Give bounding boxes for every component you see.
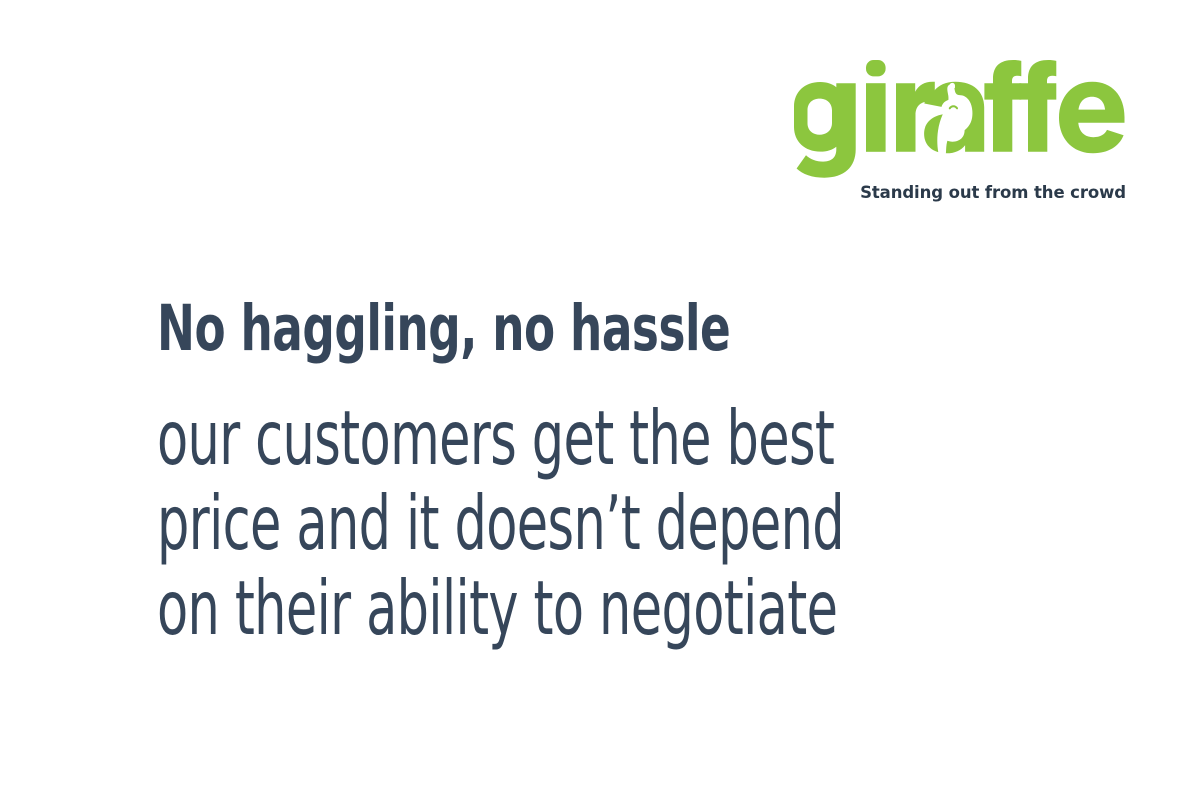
brand-logo-block[interactable]: Standing out from the crowd: [768, 60, 1128, 202]
slide-canvas: Standing out from the crowd No haggling,…: [0, 0, 1200, 800]
message-block: No haggling, no hassle our customers get…: [157, 296, 1077, 651]
giraffe-logo-icon: [788, 60, 1128, 180]
headline: No haggling, no hassle: [157, 296, 893, 362]
subhead: our customers get the best price and it …: [157, 362, 1077, 651]
subhead-line-3: on their ability to negotiate: [157, 566, 852, 651]
brand-tagline: Standing out from the crowd: [768, 184, 1126, 202]
subhead-line-2: price and it doesn’t depend: [157, 481, 852, 566]
subhead-line-1: our customers get the best: [157, 396, 852, 481]
